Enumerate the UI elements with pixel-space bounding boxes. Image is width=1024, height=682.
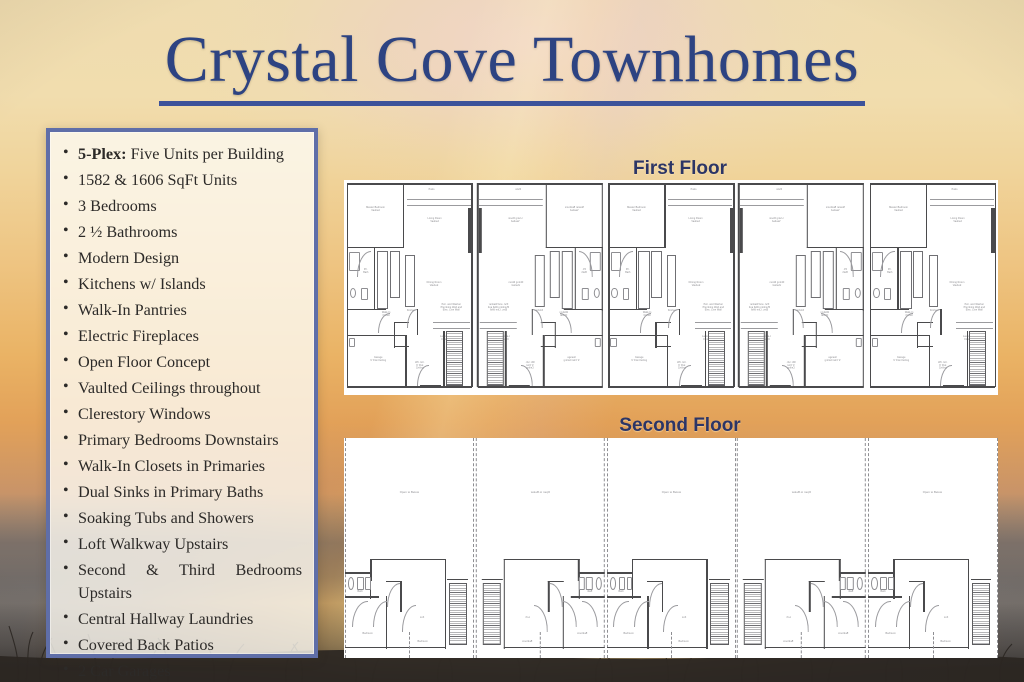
room-label-open-below: Open to Below [381, 491, 439, 494]
fixture-toilet [844, 288, 851, 301]
wall-patio-rail [740, 205, 804, 206]
wall-stair-top [743, 579, 764, 580]
edge-dash-left [345, 438, 346, 658]
room-label-open-below: Open to Below [904, 491, 962, 494]
wall-entry-threshold [681, 385, 702, 387]
closet-shelving-a [561, 251, 573, 309]
fixture-sink [595, 577, 602, 590]
wall-loft-top [765, 559, 841, 560]
edge-dash-right [475, 438, 476, 658]
room-label-dining-room: Dining Room Vaulted [942, 281, 973, 287]
wall-hall-top [647, 581, 663, 582]
dash-guide-bottom [801, 632, 802, 658]
list-item: Primary Bedrooms Downstairs [58, 429, 302, 452]
wall-top [870, 183, 996, 185]
room-label-bath: Bath [581, 590, 598, 593]
fixture-toilet [848, 577, 855, 590]
wall-bath-bottom [825, 309, 864, 310]
wall-hall-right [662, 581, 663, 612]
list-item-label: Walk-In Pantries [78, 301, 187, 319]
door-swing-closet [634, 601, 648, 627]
unit-geometry: Master Bedroom VaultedPatioLiving Room V… [736, 180, 867, 395]
room-label-garage: Garage 9' Flat Ceiling [816, 357, 850, 363]
dash-guide-bottom [409, 632, 410, 658]
closet-shelving-b [811, 251, 821, 298]
dash-guide-bottom [539, 632, 540, 658]
room-label-master-bedroom: Master Bedroom Vaulted [615, 206, 658, 212]
wall-bath-top [607, 572, 633, 573]
fixture-water-heater [856, 338, 863, 347]
fixture-shower [888, 577, 894, 590]
staircase [487, 331, 504, 387]
wall-mech-line [742, 322, 779, 323]
wall-garage-right [929, 335, 930, 387]
room-label-mechanical: Pwr. and Washer Plumbing Wall and Elec. … [958, 303, 992, 312]
wall-mech-line-2 [695, 328, 732, 329]
wall-top [347, 183, 473, 185]
room-label-dining-room: Dining Room Vaulted [500, 281, 531, 287]
room-label-bath: Bath [613, 590, 630, 593]
list-item: Electric Fireplaces [58, 325, 302, 348]
closet-shelving-a [900, 251, 912, 309]
fixture-shower [579, 577, 585, 590]
list-item: Kitchens w/ Islands [58, 273, 302, 296]
room-label-master-bedroom: Master Bedroom Vaulted [814, 206, 857, 212]
features-list: 5-Plex: Five Units per Building 1582 & 1… [58, 143, 302, 682]
wall-bed3-bottom [402, 647, 446, 648]
wall-bath-right [574, 247, 575, 309]
page-title: Crystal Cove Townhomes [0, 26, 1024, 106]
wall-bed3-bottom [765, 647, 809, 648]
room-label-open-below: Open to Below [773, 491, 831, 494]
wall-bath-bottom [570, 596, 604, 597]
wall-bed2-bottom [868, 647, 926, 648]
list-item: 2 Car Garages [58, 660, 302, 682]
door-swing-hall [649, 583, 662, 607]
list-item-label: Loft Walkway Upstairs [78, 535, 228, 553]
wall-loft-right [968, 559, 969, 649]
wall-entry-threshold [770, 385, 791, 387]
staircase [710, 583, 728, 645]
features-panel: 5-Plex: Five Units per Building 1582 & 1… [46, 128, 318, 658]
wall-master-right [403, 183, 404, 248]
unit-geometry: Master Bedroom VaultedPatioLiving Room V… [344, 180, 475, 395]
unit-geometry: Open to BelowBathBedroomLoftBedroom [867, 438, 998, 658]
staircase [748, 331, 765, 387]
fixture-toilet [880, 577, 887, 590]
wall-bath-bottom [868, 596, 902, 597]
fixture-sink [610, 577, 617, 590]
list-item-label: Electric Fireplaces [78, 327, 199, 345]
wall-hall-top [909, 581, 925, 582]
wall-entry-threshold [420, 385, 441, 387]
wall-loft-top [370, 559, 446, 560]
fixture-sink [348, 577, 355, 590]
list-item-label: Primary Bedrooms Downstairs [78, 431, 279, 449]
wall-garage-right [543, 335, 544, 387]
list-item: Vaulted Ceilings throughout [58, 377, 302, 400]
list-item: Dual Sinks in Primary Baths [58, 481, 302, 504]
room-label-bedroom-three: Bedroom [931, 641, 960, 644]
wall-mech-line-2 [433, 328, 470, 329]
room-label-dining-room: Dining Room Vaulted [419, 281, 450, 287]
fixture-toilet [361, 288, 368, 301]
first-floor-unit: Master Bedroom VaultedPatioLiving Room V… [475, 180, 606, 395]
list-item-label: 2 Car Garages [78, 662, 171, 680]
room-label-mechanical: Pwr. and Washer Plumbing Wall and Elec. … [434, 303, 468, 312]
list-item: Second & Third Bedrooms Upstairs [58, 559, 302, 605]
door-swing-bed2 [582, 601, 598, 627]
room-label-mechanical: Pwr. and Washer Plumbing Wall and Elec. … [743, 303, 777, 312]
door-swing-closet [896, 601, 910, 627]
room-label-dining-room: Dining Room Vaulted [680, 281, 711, 287]
room-label-patio: Patio [675, 188, 711, 191]
wall-right [733, 183, 735, 387]
staircase [972, 583, 990, 645]
page-title-text: Crystal Cove Townhomes [159, 26, 865, 106]
room-label-bedroom-three: Bedroom [408, 641, 437, 644]
room-label-open-below: Open to Below [511, 491, 569, 494]
room-label-bedroom-three: Bedroom [670, 641, 699, 644]
room-label-master-bedroom: Master Bedroom Vaulted [354, 206, 397, 212]
wall-stair-top [971, 579, 992, 580]
edge-dash-left [868, 438, 869, 658]
door-swing-hall [910, 583, 923, 607]
edge-dash-left [607, 438, 608, 658]
wall-hall-right [400, 581, 401, 612]
wall-stair-left [705, 331, 706, 387]
wall-bath-left [347, 247, 348, 312]
list-item-label: Kitchens w/ Islands [78, 275, 206, 293]
room-label-living-room: Living Room Vaulted [759, 217, 795, 223]
wall-patio-edge [740, 199, 804, 200]
list-item-label: Open Floor Concept [78, 353, 210, 371]
list-item-label: 1582 & 1606 SqFt Units [78, 171, 237, 189]
room-label-mechanical: Pwr. and Washer Plumbing Wall and Elec. … [482, 303, 516, 312]
fixture-shower [840, 577, 846, 590]
wall-bath-bottom [347, 309, 386, 310]
list-item-label: Covered Back Patios [78, 636, 214, 654]
dash-guide-bottom [933, 632, 934, 658]
wall-right [995, 183, 997, 387]
staircase [744, 583, 762, 645]
staircase [708, 331, 725, 387]
wall-bath-right [836, 247, 837, 309]
room-label-patio: Patio [937, 188, 973, 191]
door-swing-hall [387, 583, 400, 607]
room-label-living-room: Living Room Vaulted [939, 217, 975, 223]
fixture-toilet [357, 577, 364, 590]
wall-bed2-bottom [547, 647, 605, 648]
wall-garage-top [544, 335, 603, 336]
kitchen-island [797, 255, 806, 307]
wall-mech-line [695, 322, 732, 323]
list-item: Walk-In Pantries [58, 299, 302, 322]
wall-fireplace [740, 208, 743, 253]
second-floor-plan: Open to BelowBathBedroomLoftBedroomOpen … [344, 438, 998, 658]
closet-shelving-b [651, 251, 661, 298]
unit-geometry: Open to BelowBathBedroomLoftBedroom [475, 438, 606, 658]
room-label-bedroom-two: Bedroom [615, 632, 644, 635]
wall-stair-top [481, 579, 502, 580]
room-label-garage: Garage 9' Flat Ceiling [884, 357, 918, 363]
wall-bath-right [374, 247, 375, 309]
unit-geometry: Master Bedroom VaultedPatioLiving Room V… [606, 180, 737, 395]
wall-hall-right [679, 309, 680, 335]
wall-mech-line-2 [742, 328, 779, 329]
wall-hall-top [386, 581, 402, 582]
room-label-mechanical: Pwr. and Washer Plumbing Wall and Elec. … [696, 303, 730, 312]
unit-geometry: Master Bedroom VaultedPatioLiving Room V… [475, 180, 606, 395]
wall-bath-left [608, 247, 609, 312]
list-item-label: Second & Third Bedrooms Upstairs [78, 561, 302, 602]
room-label-patio: Patio [500, 188, 536, 191]
wall-patio-rail [407, 205, 471, 206]
wall-laundry-top [802, 322, 818, 323]
wall-mech-line [480, 322, 517, 323]
wall-bath-bottom [564, 309, 603, 310]
edge-dash-left [865, 438, 866, 658]
first-floor-unit: Master Bedroom VaultedPatioLiving Room V… [867, 180, 998, 395]
wall-loft-right [504, 559, 505, 649]
first-floor-heading: First Floor [336, 158, 1024, 180]
list-item: Soaking Tubs and Showers [58, 507, 302, 530]
wall-bath-bottom [607, 596, 641, 597]
wall-fireplace [730, 208, 733, 253]
first-floor-plan: Master Bedroom VaultedPatioLiving Room V… [344, 180, 998, 395]
second-floor-heading: Second Floor [336, 415, 1024, 437]
wall-hall-right [923, 581, 924, 612]
room-label-garage: Garage 9' Flat Ceiling [623, 357, 657, 363]
wall-stair-top [709, 579, 730, 580]
wall-master-right [545, 183, 546, 248]
wall-loft-right [706, 559, 707, 649]
fixture-sink [593, 288, 600, 299]
list-item: Clerestory Windows [58, 403, 302, 426]
fixture-water-heater [610, 338, 617, 347]
fixture-toilet [619, 577, 626, 590]
kitchen-island [535, 255, 544, 307]
wall-master-right [807, 183, 808, 248]
wall-top [739, 183, 865, 185]
wall-hall-top [548, 581, 564, 582]
room-label-bath: Bath [874, 590, 891, 593]
wall-fireplace [991, 208, 994, 253]
door-swing-hall [549, 583, 562, 607]
list-item-label: Vaulted Ceilings throughout [78, 379, 261, 397]
wall-garage-top [870, 335, 929, 336]
wall-garage-right [405, 335, 406, 387]
room-label-open-below: Open to Below [642, 491, 700, 494]
wall-loft-top [893, 559, 969, 560]
wall-garage-right [804, 335, 805, 387]
edge-dash-left [603, 438, 604, 658]
wall-bed2-bottom [345, 647, 403, 648]
list-item: Walk-In Closets in Primaries [58, 455, 302, 478]
wall-hall-top [810, 581, 826, 582]
list-item: Covered Back Patios [58, 634, 302, 657]
room-label-bedroom-two: Bedroom [876, 632, 905, 635]
door-swing-bed3 [663, 605, 677, 631]
closet-shelving-b [913, 251, 923, 298]
wall-loft-right [765, 559, 766, 649]
wall-right [471, 183, 473, 387]
list-item-label: Dual Sinks in Primary Baths [78, 483, 263, 501]
wall-loft-top [632, 559, 708, 560]
list-item-label: 2 ½ Bathrooms [78, 223, 177, 241]
closet-shelving-b [390, 251, 400, 298]
fixture-toilet [586, 577, 593, 590]
dash-guide-bottom [671, 632, 672, 658]
closet-shelving-a [823, 251, 835, 309]
wall-stair-left [505, 331, 506, 387]
wall-patio-edge [407, 199, 471, 200]
wall-bottom [477, 386, 603, 388]
room-label-bedroom-two: Bedroom [829, 632, 858, 635]
unit-geometry: Master Bedroom VaultedPatioLiving Room V… [867, 180, 998, 395]
room-label-living-room: Living Room Vaulted [497, 217, 533, 223]
wall-bath-left [602, 247, 603, 312]
fixture-shower [365, 577, 371, 590]
list-item: 1582 & 1606 SqFt Units [58, 169, 302, 192]
room-label-bedroom-two: Bedroom [568, 632, 597, 635]
second-floor-unit: Open to BelowBathBedroomLoftBedroom [606, 438, 737, 658]
door-swing-hall [811, 583, 824, 607]
room-label-master-bedroom: Master Bedroom Vaulted [877, 206, 920, 212]
wall-mech-line-2 [480, 328, 517, 329]
list-item-label: 3 Bedrooms [78, 197, 157, 215]
door-swing-bed3 [795, 605, 809, 631]
list-item: Loft Walkway Upstairs [58, 533, 302, 556]
fixture-sink [873, 288, 880, 299]
room-label-dining-room: Dining Room Vaulted [761, 281, 792, 287]
fixture-sink [350, 288, 357, 299]
door-swing-closet [562, 601, 576, 627]
list-item-label: Five Units per Building [127, 145, 284, 163]
second-floor-unit: Open to BelowBathBedroomLoftBedroom [736, 438, 867, 658]
room-label-garage: Garage 9' Flat Ceiling [361, 357, 395, 363]
wall-master-right [664, 183, 665, 248]
fixture-sink [855, 288, 862, 299]
wall-top [608, 183, 734, 185]
fixture-water-heater [872, 338, 879, 347]
unit-geometry: Open to BelowBathBedroomLoftBedroom [606, 438, 737, 658]
edge-dash-right [997, 438, 998, 658]
wall-bath-left [863, 247, 864, 312]
wall-garage-top [347, 335, 406, 336]
unit-geometry: Open to BelowBathBedroomLoftBedroom [344, 438, 475, 658]
wall-patio-edge [479, 199, 543, 200]
room-label-bedroom-three: Bedroom [513, 641, 542, 644]
list-item-label: Central Hallway Laundries [78, 610, 253, 628]
wall-hall-right [417, 309, 418, 335]
room-label-master-bedroom: Master Bedroom Vaulted [553, 206, 596, 212]
wall-entry-threshold [509, 385, 530, 387]
closet-shelving-a [377, 251, 389, 309]
wall-stair-top [447, 579, 468, 580]
room-label-living-room: Living Room Vaulted [678, 217, 714, 223]
fixture-sink [871, 577, 878, 590]
door-swing-bed2 [875, 601, 891, 627]
wall-fireplace [468, 208, 471, 253]
room-label-bath: Bath [843, 590, 860, 593]
wall-bath-top [840, 572, 866, 573]
closet-shelving-a [638, 251, 650, 309]
wall-bed3-bottom [663, 647, 707, 648]
wall-bottom [347, 386, 473, 388]
wall-loft-right [445, 559, 446, 649]
door-swing-bed2 [844, 601, 860, 627]
door-swing-bed2 [352, 601, 368, 627]
list-item-label: Walk-In Closets in Primaries [78, 457, 265, 475]
wall-patio-edge [930, 199, 994, 200]
wall-bath-top [868, 572, 894, 573]
room-label-patio: Patio [414, 188, 450, 191]
kitchen-island [929, 255, 938, 307]
first-floor-unit: Master Bedroom VaultedPatioLiving Room V… [736, 180, 867, 395]
wall-loft-top [504, 559, 580, 560]
wall-garage-top [806, 335, 865, 336]
list-item: Central Hallway Laundries [58, 608, 302, 631]
staircase [449, 583, 467, 645]
unit-geometry: Open to BelowBathBedroomLoftBedroom [736, 438, 867, 658]
wall-patio-rail [930, 205, 994, 206]
kitchen-island [405, 255, 414, 307]
wall-laundry-bottom [655, 346, 671, 347]
edge-dash-right [737, 438, 738, 658]
wall-stair-left [443, 331, 444, 387]
fixture-water-heater [349, 338, 356, 347]
staircase [969, 331, 986, 387]
wall-master-right [926, 183, 927, 248]
wall-bath-right [897, 247, 898, 309]
second-floor-unit: Open to BelowBathBedroomLoftBedroom [867, 438, 998, 658]
fixture-toilet [582, 288, 589, 301]
first-floor-unit: Master Bedroom VaultedPatioLiving Room V… [344, 180, 475, 395]
list-item: Open Floor Concept [58, 351, 302, 374]
list-item: Modern Design [58, 247, 302, 270]
staircase [483, 583, 501, 645]
wall-garage-right [667, 335, 668, 387]
list-item-lead: 5-Plex: [78, 145, 127, 163]
wall-bottom [870, 386, 996, 388]
wall-bath-bottom [870, 309, 909, 310]
wall-patio-rail [668, 205, 732, 206]
door-swing-bed3 [534, 605, 548, 631]
wall-entry-threshold [943, 385, 964, 387]
wall-hall-right [940, 309, 941, 335]
fixture-water-heater [595, 338, 602, 347]
staircase [446, 331, 463, 387]
wall-bath-right [636, 247, 637, 309]
wall-mech-line-2 [956, 328, 993, 329]
fixture-toilet [623, 288, 630, 301]
wall-stair-left [967, 331, 968, 387]
room-label-bedroom-three: Bedroom [774, 641, 803, 644]
fixture-sink [611, 288, 618, 299]
wall-bath-top [345, 572, 371, 573]
wall-bed3-bottom [504, 647, 548, 648]
wall-fireplace [478, 208, 481, 253]
fixture-toilet [884, 288, 891, 301]
wall-bottom [608, 386, 734, 388]
door-swing-closet [373, 601, 387, 627]
wall-bottom [739, 386, 865, 388]
list-item: 3 Bedrooms [58, 195, 302, 218]
wall-garage-top [608, 335, 667, 336]
door-swing-closet [824, 601, 838, 627]
wall-laundry-bottom [917, 346, 933, 347]
